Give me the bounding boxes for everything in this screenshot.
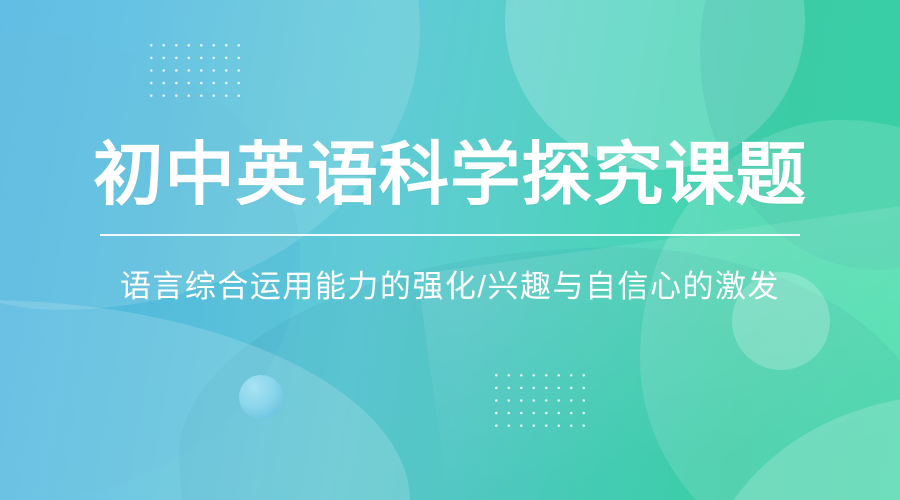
banner-content: 初中英语科学探究课题 语言综合运用能力的强化/兴趣与自信心的激发 [0, 0, 900, 500]
title-divider [100, 234, 800, 236]
page-subtitle: 语言综合运用能力的强化/兴趣与自信心的激发 [120, 266, 780, 308]
page-title: 初中英语科学探究课题 [93, 132, 807, 218]
course-banner: 初中英语科学探究课题 语言综合运用能力的强化/兴趣与自信心的激发 [0, 0, 900, 500]
